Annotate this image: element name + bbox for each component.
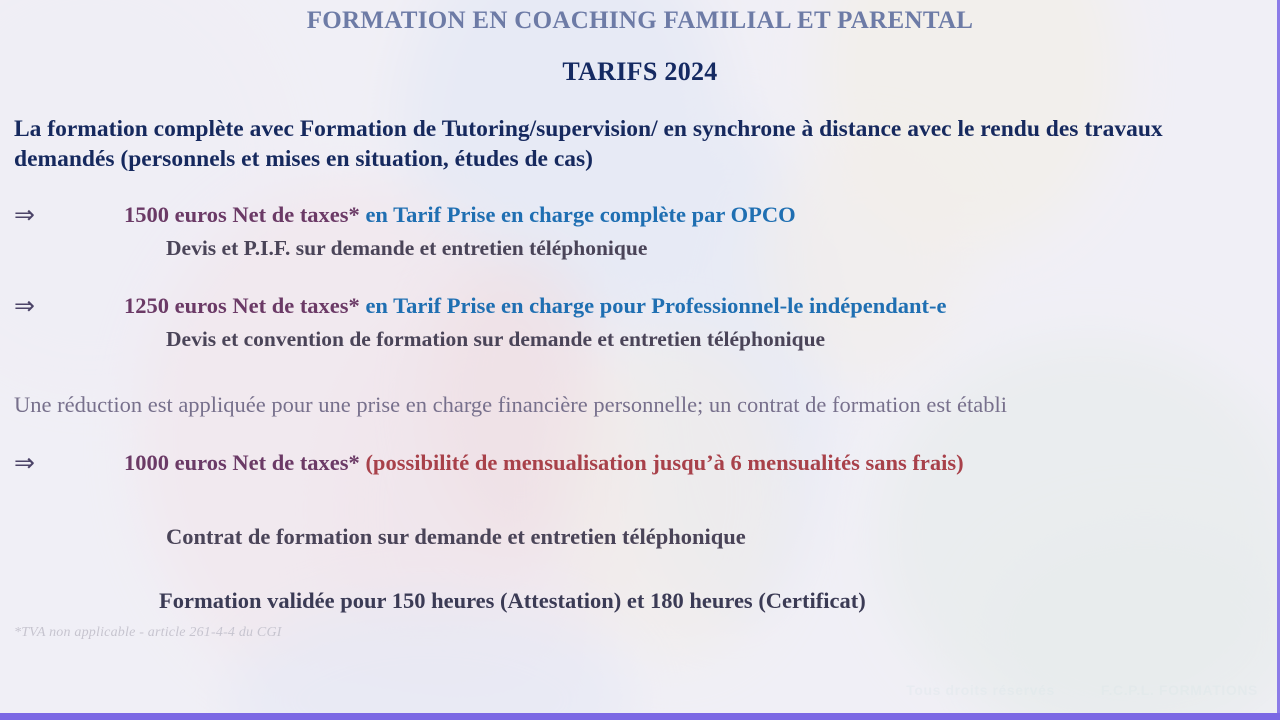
offer-qualifier-1: en Tarif Prise en charge complète par OP… xyxy=(360,202,796,227)
page-title: FORMATION EN COACHING FAMILIAL ET PARENT… xyxy=(14,7,1266,36)
offer-price-3: 1000 euros Net de taxes* xyxy=(124,450,360,475)
slide-canvas: FORMATION EN COACHING FAMILIAL ET PARENT… xyxy=(0,0,1280,720)
offer-subtext-2: Devis et convention de formation sur dem… xyxy=(14,326,1266,354)
offer-price-1: 1500 euros Net de taxes* xyxy=(124,202,360,227)
offer-price-line-3: 1000 euros Net de taxes* (possibilité de… xyxy=(14,449,1266,478)
slide-border-bottom xyxy=(0,713,1280,720)
offer-qualifier-3: (possibilité de mensualisation jusqu’à 6… xyxy=(360,450,964,475)
double-arrow-icon: ⇒ xyxy=(14,199,54,230)
contract-line: Contrat de formation sur demande et entr… xyxy=(14,522,1266,551)
double-arrow-icon: ⇒ xyxy=(14,290,54,321)
double-arrow-icon: ⇒ xyxy=(14,447,54,478)
offer-price-line-2: 1250 euros Net de taxes* en Tarif Prise … xyxy=(14,292,1266,321)
offer-block-1: ⇒ 1500 euros Net de taxes* en Tarif Pris… xyxy=(14,201,1266,263)
offer-price-2: 1250 euros Net de taxes* xyxy=(124,293,360,318)
offer-block-3: ⇒ 1000 euros Net de taxes* (possibilité … xyxy=(14,449,1266,478)
intro-paragraph: La formation complète avec Formation de … xyxy=(14,114,1266,175)
offer-qualifier-2: en Tarif Prise en charge pour Profession… xyxy=(360,293,947,318)
offer-block-2: ⇒ 1250 euros Net de taxes* en Tarif Pris… xyxy=(14,292,1266,354)
slide-content: FORMATION EN COACHING FAMILIAL ET PARENT… xyxy=(0,7,1280,720)
page-subtitle: TARIFS 2024 xyxy=(14,57,1266,87)
offer-price-line-1: 1500 euros Net de taxes* en Tarif Prise … xyxy=(14,201,1266,230)
offer-subtext-1: Devis et P.I.F. sur demande et entretien… xyxy=(14,235,1266,263)
reduction-note: Une réduction est appliquée pour une pri… xyxy=(14,391,1266,419)
validation-line: Formation validée pour 150 heures (Attes… xyxy=(14,586,1266,615)
